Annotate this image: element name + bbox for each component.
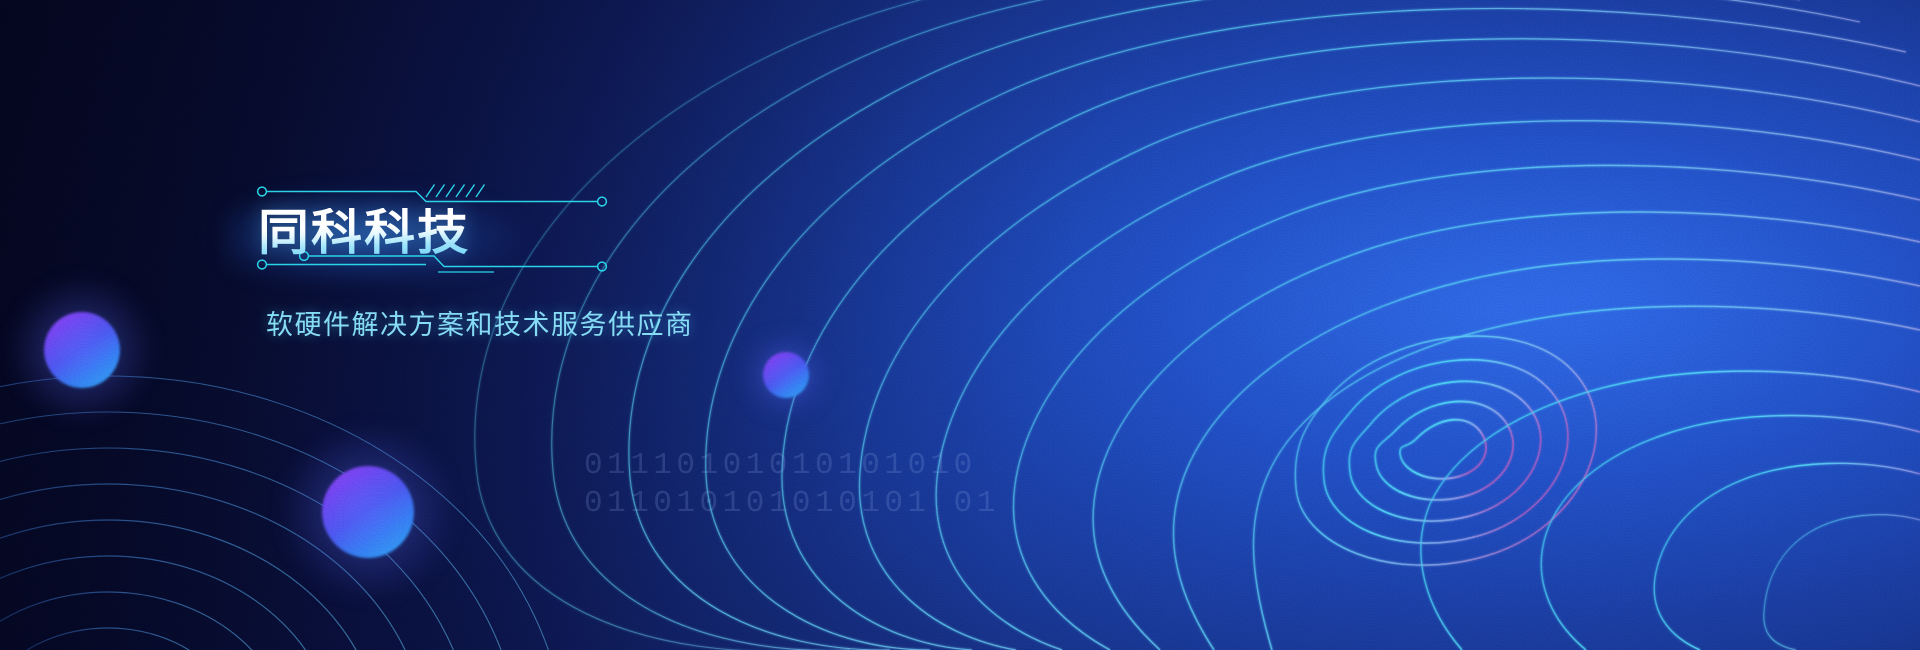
node-marker-top-left bbox=[258, 187, 267, 196]
hatch-marks-top bbox=[426, 185, 485, 198]
node-marker-top-right bbox=[598, 197, 607, 206]
hero-banner: 01110101010101010 011010101010101 01 bbox=[0, 0, 1920, 650]
brand-logo-title: 同科科技 bbox=[258, 208, 470, 257]
brand-subtitle: 软硬件解决方案和技术服务供应商 bbox=[266, 303, 694, 342]
node-marker-bottom-right bbox=[598, 262, 607, 271]
brand-title-block: 同科科技 bbox=[248, 176, 608, 276]
node-marker-bottom-left bbox=[258, 260, 267, 269]
